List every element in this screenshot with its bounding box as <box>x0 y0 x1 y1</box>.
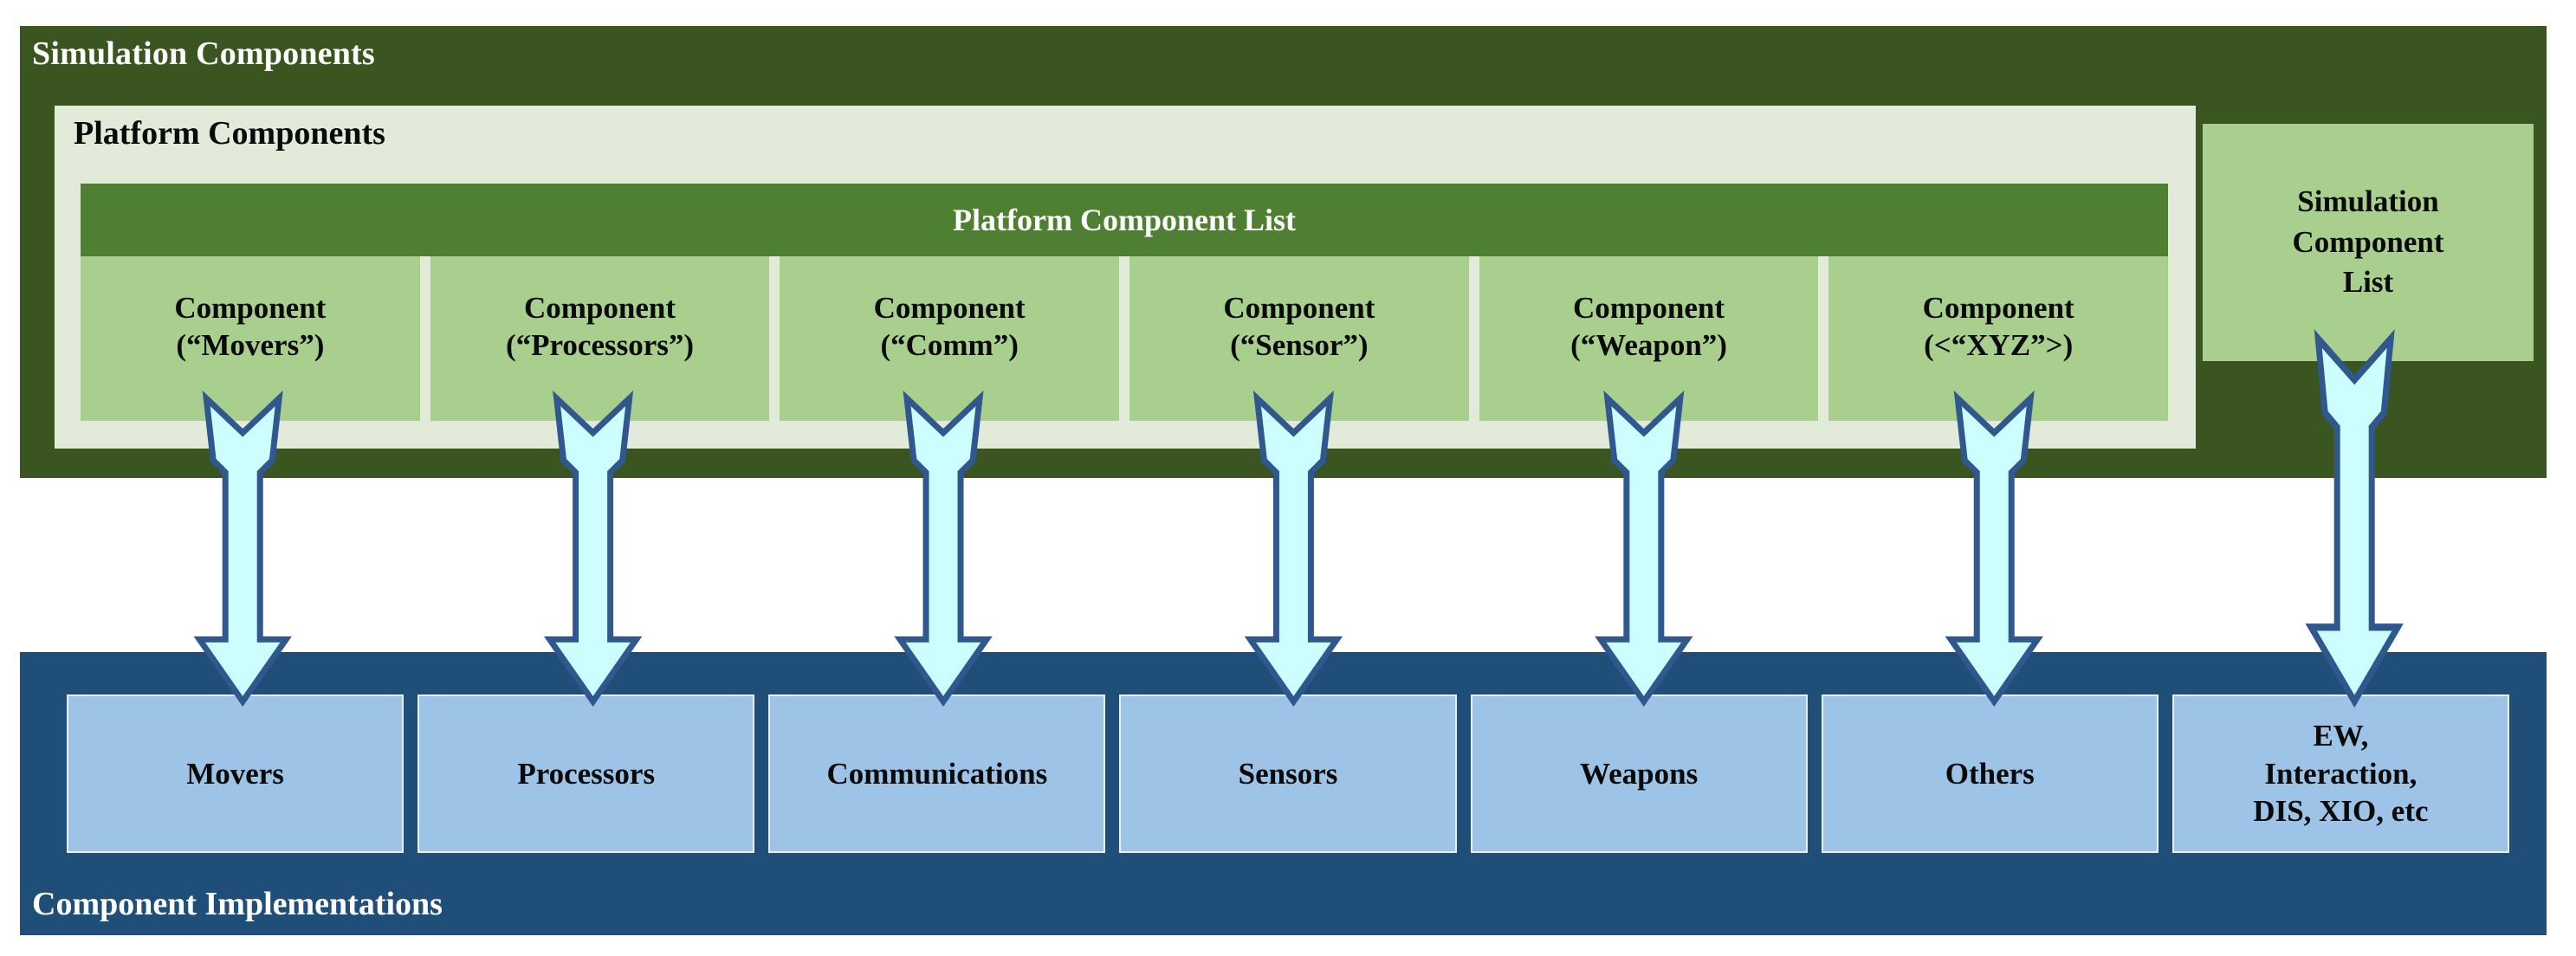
implementation-weapons[interactable]: Weapons <box>1471 694 1808 853</box>
component-kind-label: Component <box>1923 290 2074 327</box>
component-implementations-block: Movers Processors Communications Sensors… <box>20 652 2547 935</box>
component-kind-label: Component <box>1573 290 1725 327</box>
component-name-label: (“Comm”) <box>880 327 1018 365</box>
platform-component-weapon[interactable]: Component (“Weapon”) <box>1479 256 1819 421</box>
diagram-canvas: Simulation Components Platform Component… <box>0 0 2576 956</box>
component-implementations-row: Movers Processors Communications Sensors… <box>67 694 2509 853</box>
simulation-component-list-line2: Component <box>2292 223 2443 263</box>
implementation-label-line2: Interaction, <box>2253 755 2428 793</box>
platform-component-list-header: Platform Component List <box>81 184 2168 256</box>
platform-component-row: Component (“Movers”) Component (“Process… <box>81 256 2168 421</box>
implementation-label: Sensors <box>1239 757 1338 791</box>
implementation-ew-interaction-dis-xio[interactable]: EW, Interaction, DIS, XIO, etc <box>2172 694 2509 853</box>
component-name-label: (“Processors”) <box>506 327 694 365</box>
implementation-label: Weapons <box>1580 757 1698 791</box>
implementation-label: Movers <box>186 757 284 791</box>
implementation-communications[interactable]: Communications <box>768 694 1105 853</box>
component-kind-label: Component <box>174 290 326 327</box>
component-kind-label: Component <box>874 290 1026 327</box>
implementation-label-line1: EW, <box>2253 717 2428 755</box>
simulation-components-block: Simulation Components Platform Component… <box>20 26 2547 478</box>
implementation-movers[interactable]: Movers <box>67 694 404 853</box>
simulation-component-list-line1: Simulation <box>2292 182 2443 223</box>
simulation-component-list-line3: List <box>2292 262 2443 303</box>
platform-component-comm[interactable]: Component (“Comm”) <box>780 256 1119 421</box>
platform-components-panel: Platform Components Platform Component L… <box>55 106 2196 449</box>
simulation-component-list-box[interactable]: Simulation Component List <box>2203 124 2534 361</box>
implementation-others[interactable]: Others <box>1822 694 2159 853</box>
implementation-label: Others <box>1945 757 2035 791</box>
component-kind-label: Component <box>524 290 676 327</box>
implementation-label: Processors <box>517 757 655 791</box>
component-name-label: (“Movers”) <box>176 327 324 365</box>
platform-component-xyz[interactable]: Component (<“XYZ”>) <box>1828 256 2168 421</box>
platform-component-movers[interactable]: Component (“Movers”) <box>81 256 420 421</box>
platform-component-processors[interactable]: Component (“Processors”) <box>430 256 770 421</box>
simulation-components-title: Simulation Components <box>32 35 375 73</box>
component-name-label: (“Weapon”) <box>1570 327 1727 365</box>
component-implementations-title: Component Implementations <box>32 885 443 923</box>
implementation-label-line3: DIS, XIO, etc <box>2253 792 2428 830</box>
implementation-processors[interactable]: Processors <box>417 694 754 853</box>
platform-component-list-label: Platform Component List <box>953 202 1296 238</box>
implementation-sensors[interactable]: Sensors <box>1119 694 1456 853</box>
implementation-label: Communications <box>826 757 1047 791</box>
component-name-label: (<“XYZ”>) <box>1924 327 2073 365</box>
platform-component-sensor[interactable]: Component (“Sensor”) <box>1129 256 1469 421</box>
platform-components-title: Platform Components <box>74 114 385 152</box>
component-kind-label: Component <box>1223 290 1375 327</box>
component-name-label: (“Sensor”) <box>1230 327 1368 365</box>
